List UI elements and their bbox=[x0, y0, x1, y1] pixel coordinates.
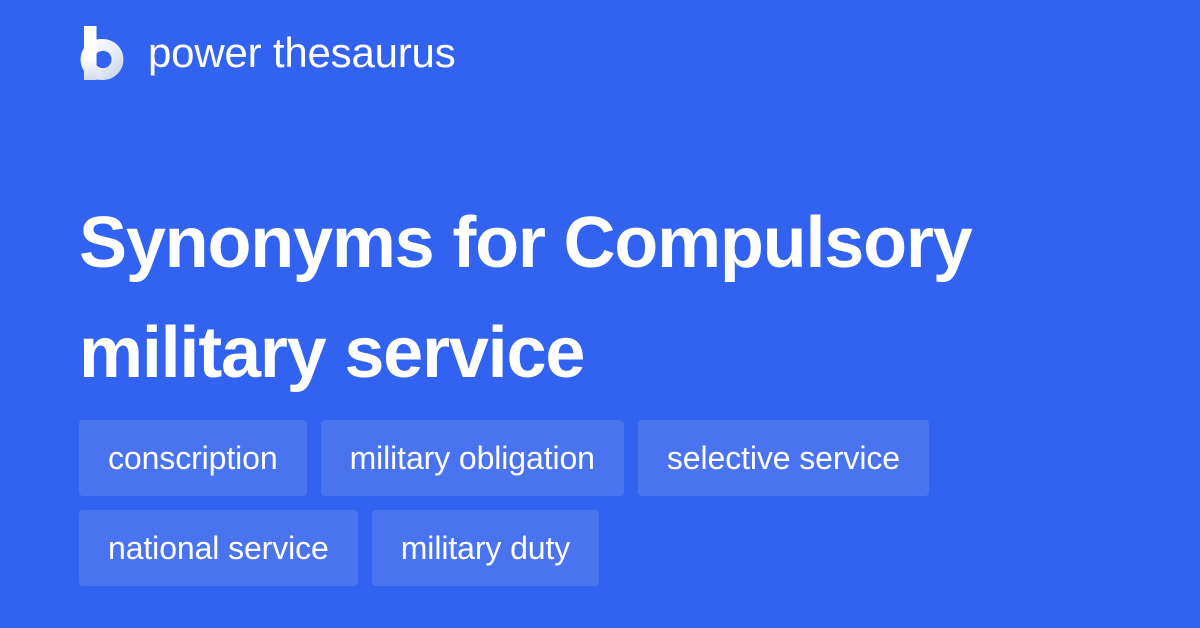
page-title-line-2: military service bbox=[79, 298, 1139, 408]
synonym-chip[interactable]: military duty bbox=[372, 510, 599, 586]
page-title-line-1: Synonyms for Compulsory bbox=[79, 188, 1139, 298]
brand-lockup[interactable]: power thesaurus bbox=[79, 26, 456, 80]
synonym-chip[interactable]: selective service bbox=[638, 420, 929, 496]
power-thesaurus-b-logo-icon bbox=[79, 26, 128, 80]
share-card: power thesaurus Synonyms for Compulsory … bbox=[0, 0, 1200, 628]
synonym-chip-list: conscription military obligation selecti… bbox=[79, 420, 1139, 586]
synonym-chip[interactable]: military obligation bbox=[321, 420, 624, 496]
brand-name: power thesaurus bbox=[148, 29, 456, 77]
page-title: Synonyms for Compulsory military service bbox=[79, 188, 1139, 408]
synonym-chip[interactable]: national service bbox=[79, 510, 358, 586]
synonym-chip[interactable]: conscription bbox=[79, 420, 307, 496]
